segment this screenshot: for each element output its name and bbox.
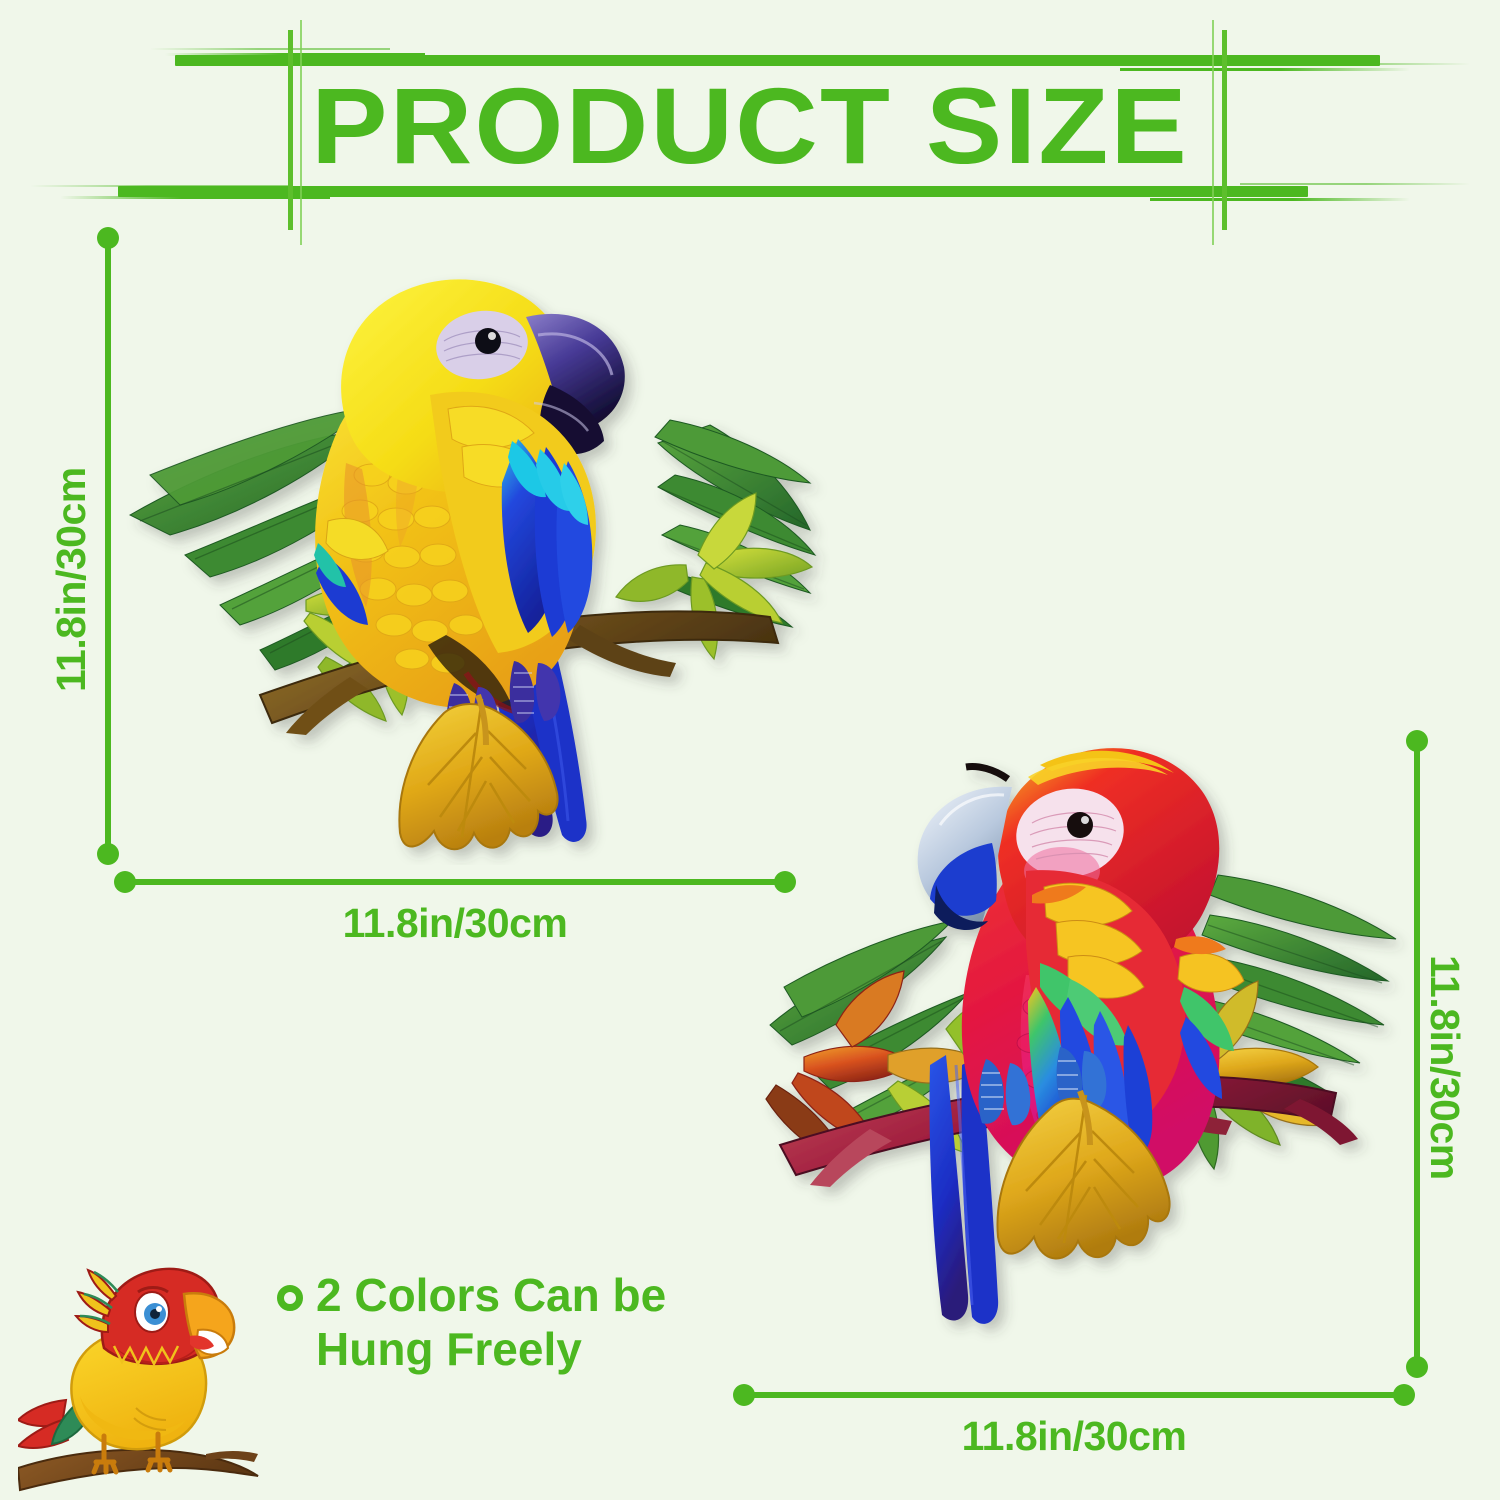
dimension-dot-bottom-left bbox=[97, 843, 119, 865]
dimension-line-vertical-left bbox=[105, 237, 111, 855]
feature-caption: 2 Colors Can be Hung Freely bbox=[316, 1268, 666, 1377]
dimension-label-width-1: 11.8in/30cm bbox=[343, 900, 568, 947]
product-image-yellow-blue-macaw bbox=[110, 225, 830, 865]
title-banner: PRODUCT SIZE bbox=[0, 0, 1500, 230]
dimension-line-vertical-right bbox=[1414, 740, 1420, 1368]
cartoon-parrot-mascot bbox=[18, 1238, 278, 1500]
banner-hairline-top-left bbox=[150, 48, 390, 50]
dimension-label-height-1: 11.8in/30cm bbox=[48, 467, 95, 692]
mascot-branch bbox=[18, 1450, 258, 1490]
dimension-label-width-2: 11.8in/30cm bbox=[962, 1413, 1187, 1460]
infographic-canvas: PRODUCT SIZE bbox=[0, 0, 1500, 1500]
dimension-line-horizontal-1 bbox=[125, 879, 785, 885]
product-image-scarlet-macaw bbox=[740, 725, 1440, 1375]
banner-thickline-bottom bbox=[118, 186, 1308, 197]
page-title: PRODUCT SIZE bbox=[0, 72, 1500, 180]
dimension-dot-right-1 bbox=[774, 871, 796, 893]
banner-hairline-bottom-right bbox=[1240, 183, 1470, 185]
ring-bullet-icon bbox=[277, 1285, 303, 1311]
dimension-dot-right-2 bbox=[1393, 1384, 1415, 1406]
dimension-label-height-2: 11.8in/30cm bbox=[1421, 955, 1468, 1180]
dimension-line-horizontal-2 bbox=[744, 1392, 1404, 1398]
banner-thinline-bottom-right bbox=[1150, 198, 1410, 201]
banner-hairline-top-right bbox=[1230, 63, 1470, 65]
dimension-dot-bottom-right bbox=[1406, 1356, 1428, 1378]
